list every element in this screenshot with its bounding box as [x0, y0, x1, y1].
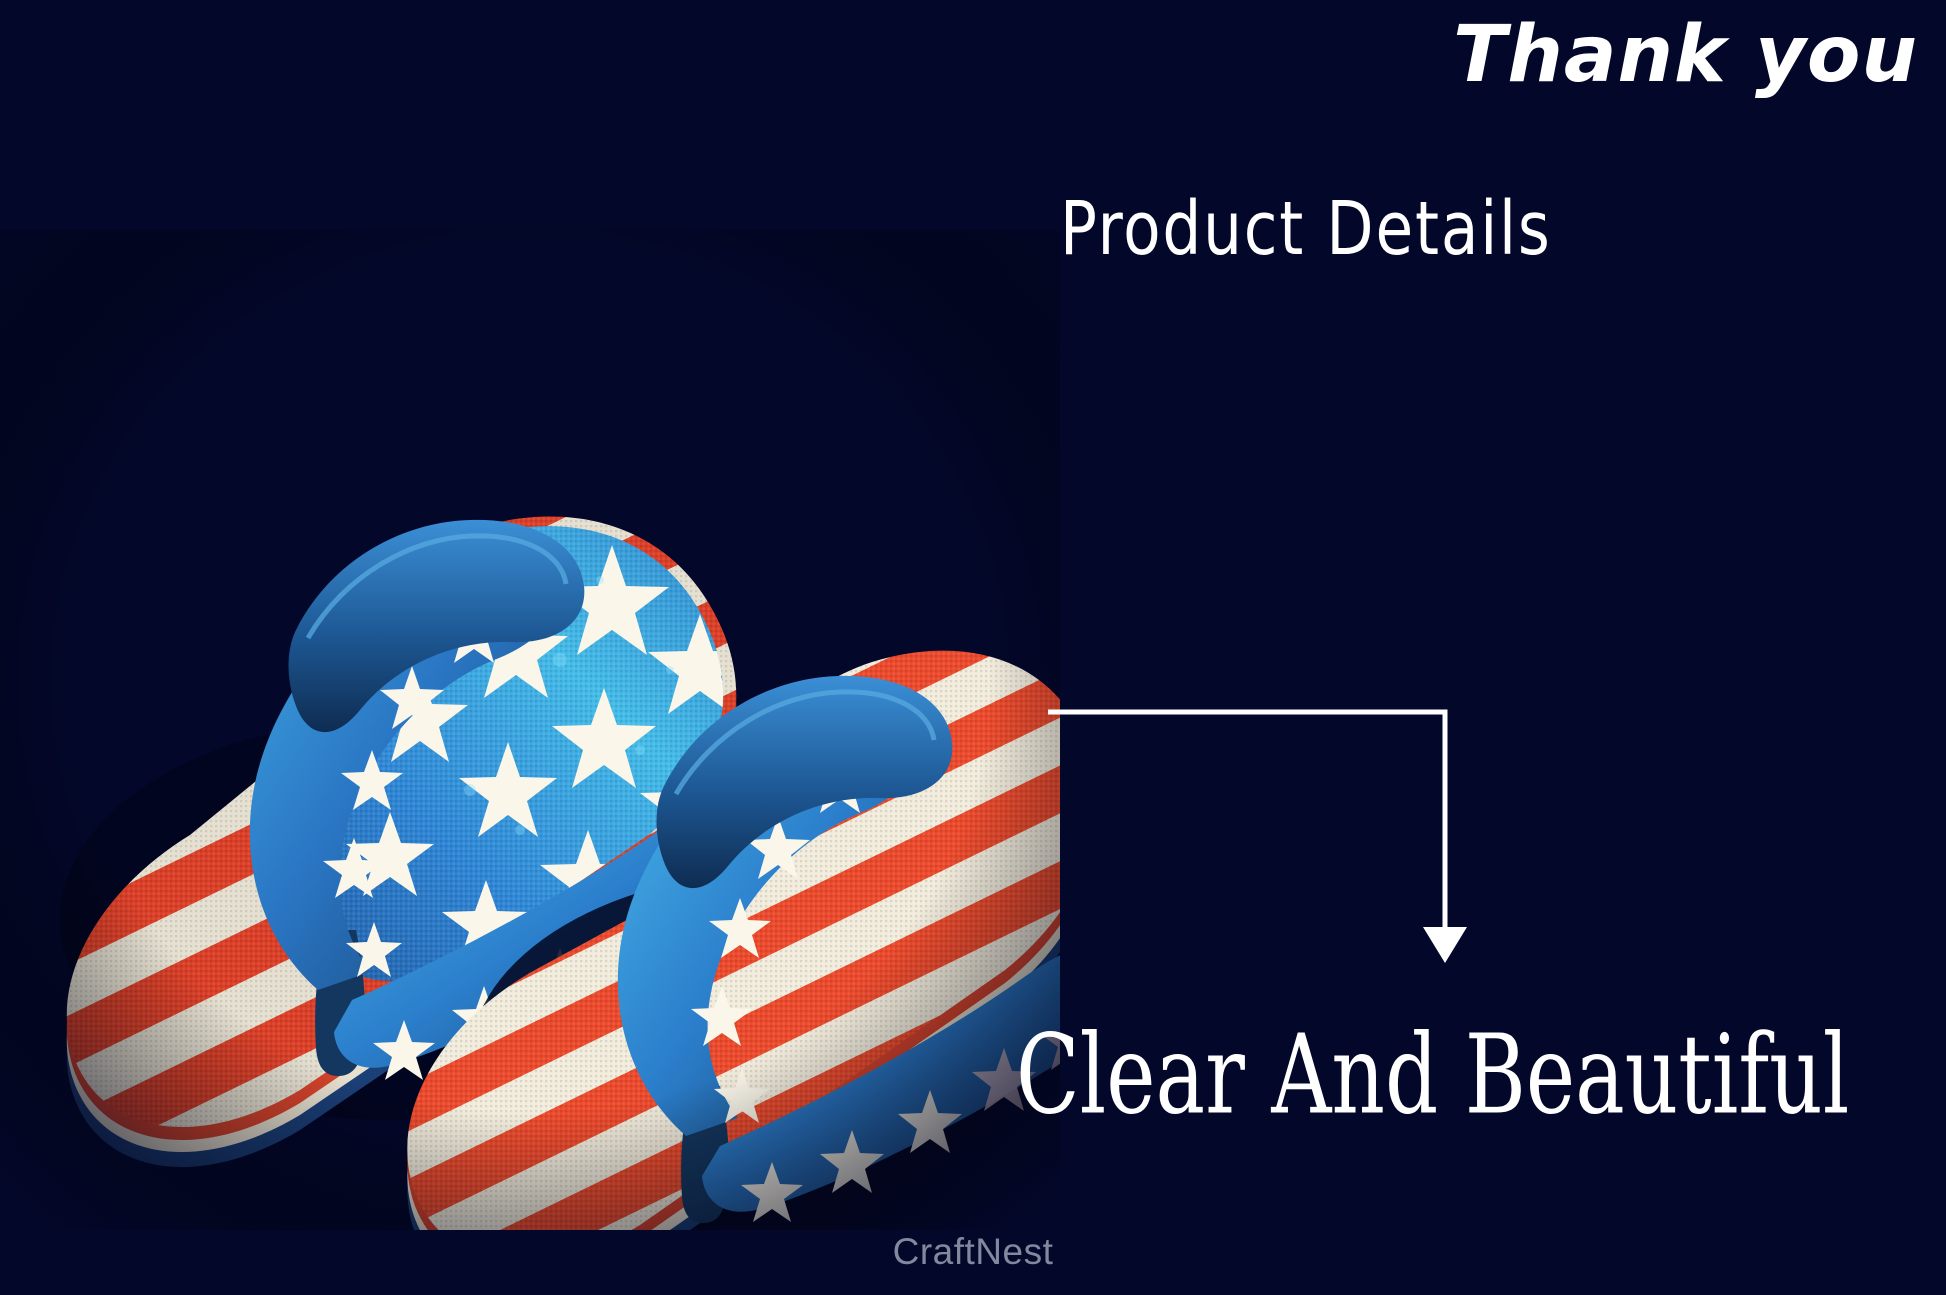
sandal-pair	[0, 230, 1060, 1230]
product-image	[0, 230, 1060, 1230]
arrow-line	[1048, 712, 1445, 927]
page-title: Product Details	[1060, 192, 1552, 266]
tagline: Clear And Beautiful	[1016, 1020, 1849, 1129]
arrow-head-icon	[1423, 927, 1467, 963]
thank-you-heading: Thank you	[1453, 16, 1918, 94]
watermark: CraftNest	[0, 1231, 1946, 1273]
poster-canvas: Thank you Product Details Clear And Beau…	[0, 0, 1946, 1295]
elbow-arrow	[1030, 695, 1480, 985]
